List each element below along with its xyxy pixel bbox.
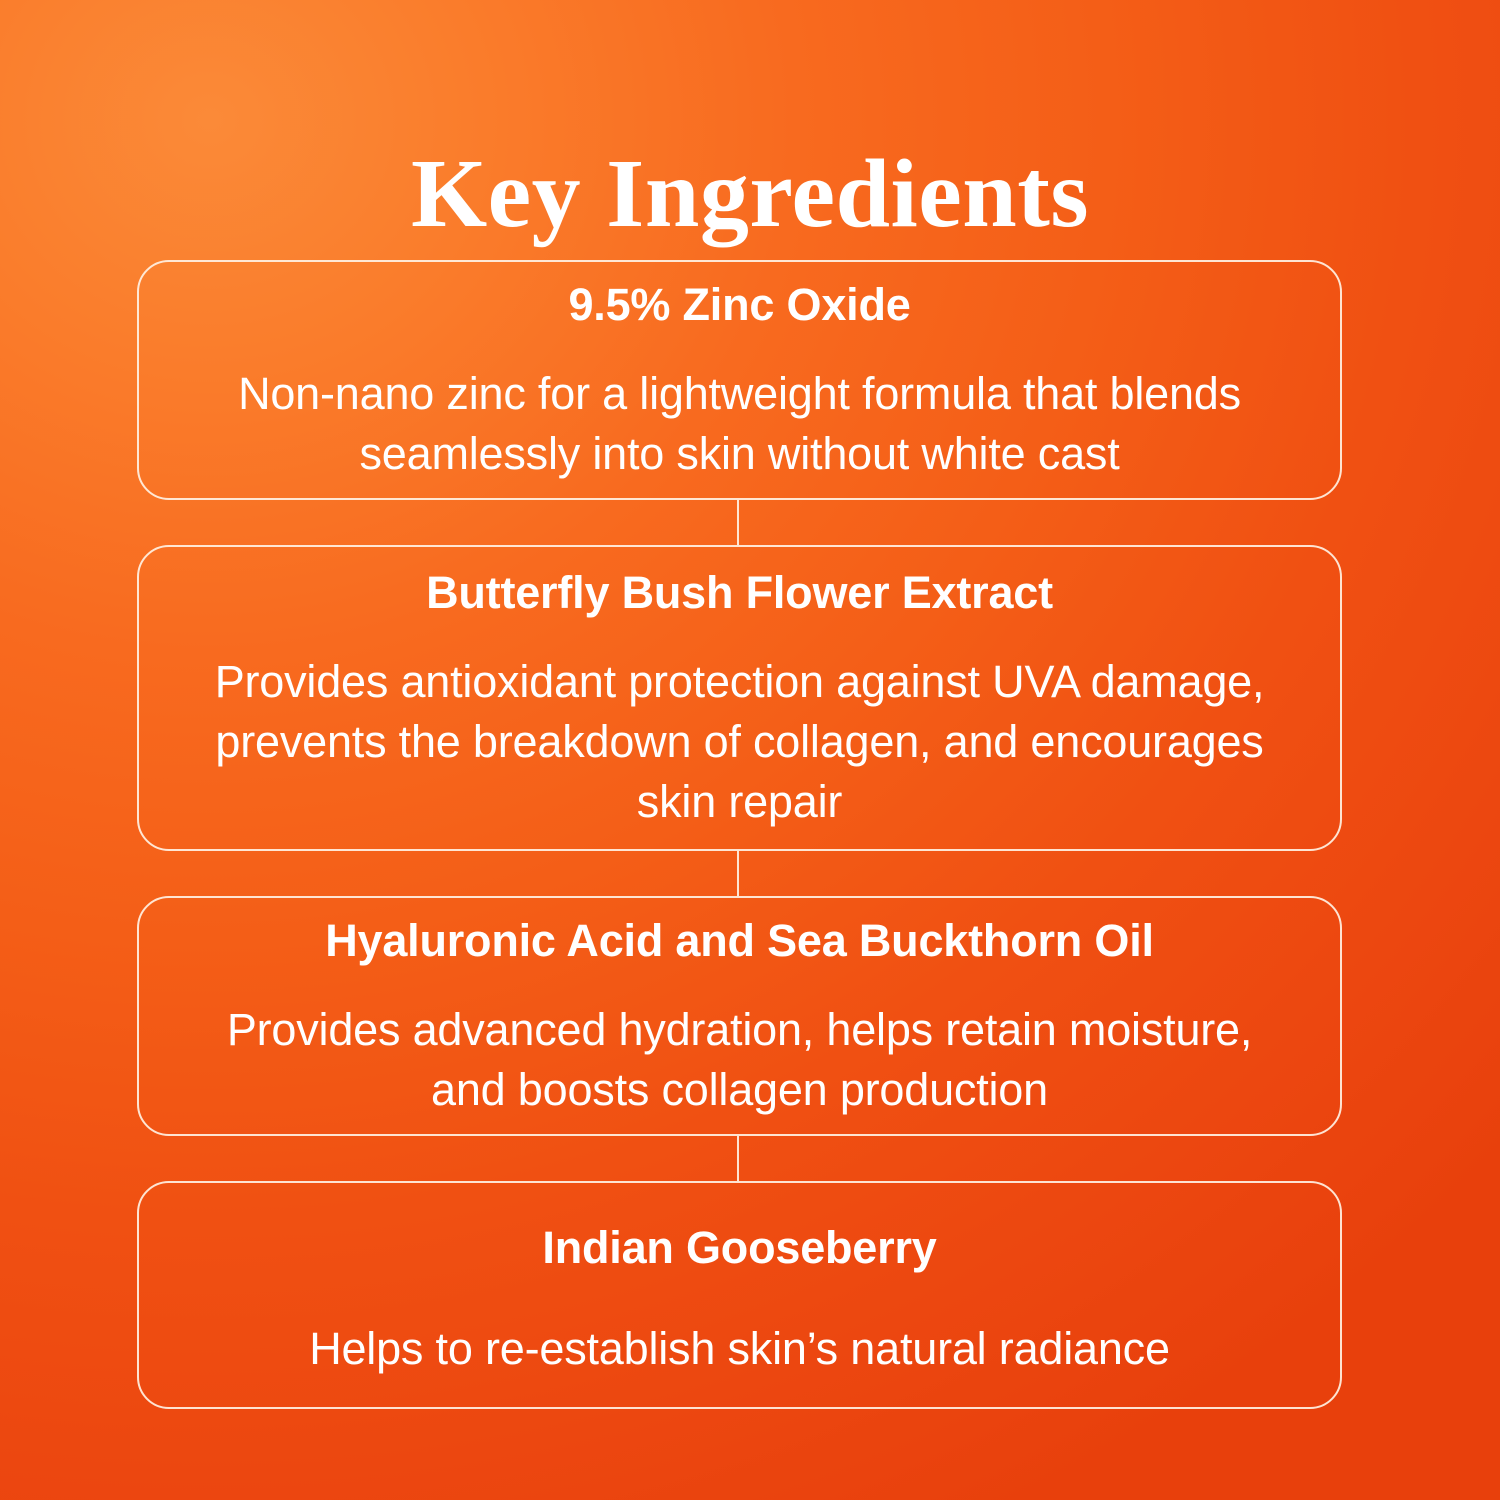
- key-ingredients-infographic: Key Ingredients 9.5% Zinc Oxide Non-nano…: [0, 0, 1500, 1500]
- ingredient-description: Provides antioxidant protection against …: [207, 652, 1272, 832]
- ingredient-description: Provides advanced hydration, helps retai…: [207, 1000, 1272, 1120]
- ingredient-card: Butterfly Bush Flower Extract Provides a…: [137, 545, 1342, 851]
- ingredient-card: 9.5% Zinc Oxide Non-nano zinc for a ligh…: [137, 260, 1342, 500]
- ingredient-description: Helps to re-establish skin’s natural rad…: [309, 1319, 1170, 1379]
- ingredient-card: Hyaluronic Acid and Sea Buckthorn Oil Pr…: [137, 896, 1342, 1136]
- page-title: Key Ingredients: [0, 144, 1500, 246]
- ingredient-description: Non-nano zinc for a lightweight formula …: [207, 364, 1272, 484]
- card-connector-line: [737, 851, 739, 896]
- card-connector-line: [737, 1136, 739, 1181]
- ingredient-name: Indian Gooseberry: [542, 1221, 936, 1275]
- ingredient-card: Indian Gooseberry Helps to re-establish …: [137, 1181, 1342, 1409]
- ingredient-name: Butterfly Bush Flower Extract: [426, 566, 1053, 620]
- ingredient-name: 9.5% Zinc Oxide: [568, 278, 910, 332]
- ingredient-card-stack: 9.5% Zinc Oxide Non-nano zinc for a ligh…: [137, 260, 1342, 1409]
- card-connector-line: [737, 500, 739, 545]
- ingredient-name: Hyaluronic Acid and Sea Buckthorn Oil: [325, 914, 1154, 968]
